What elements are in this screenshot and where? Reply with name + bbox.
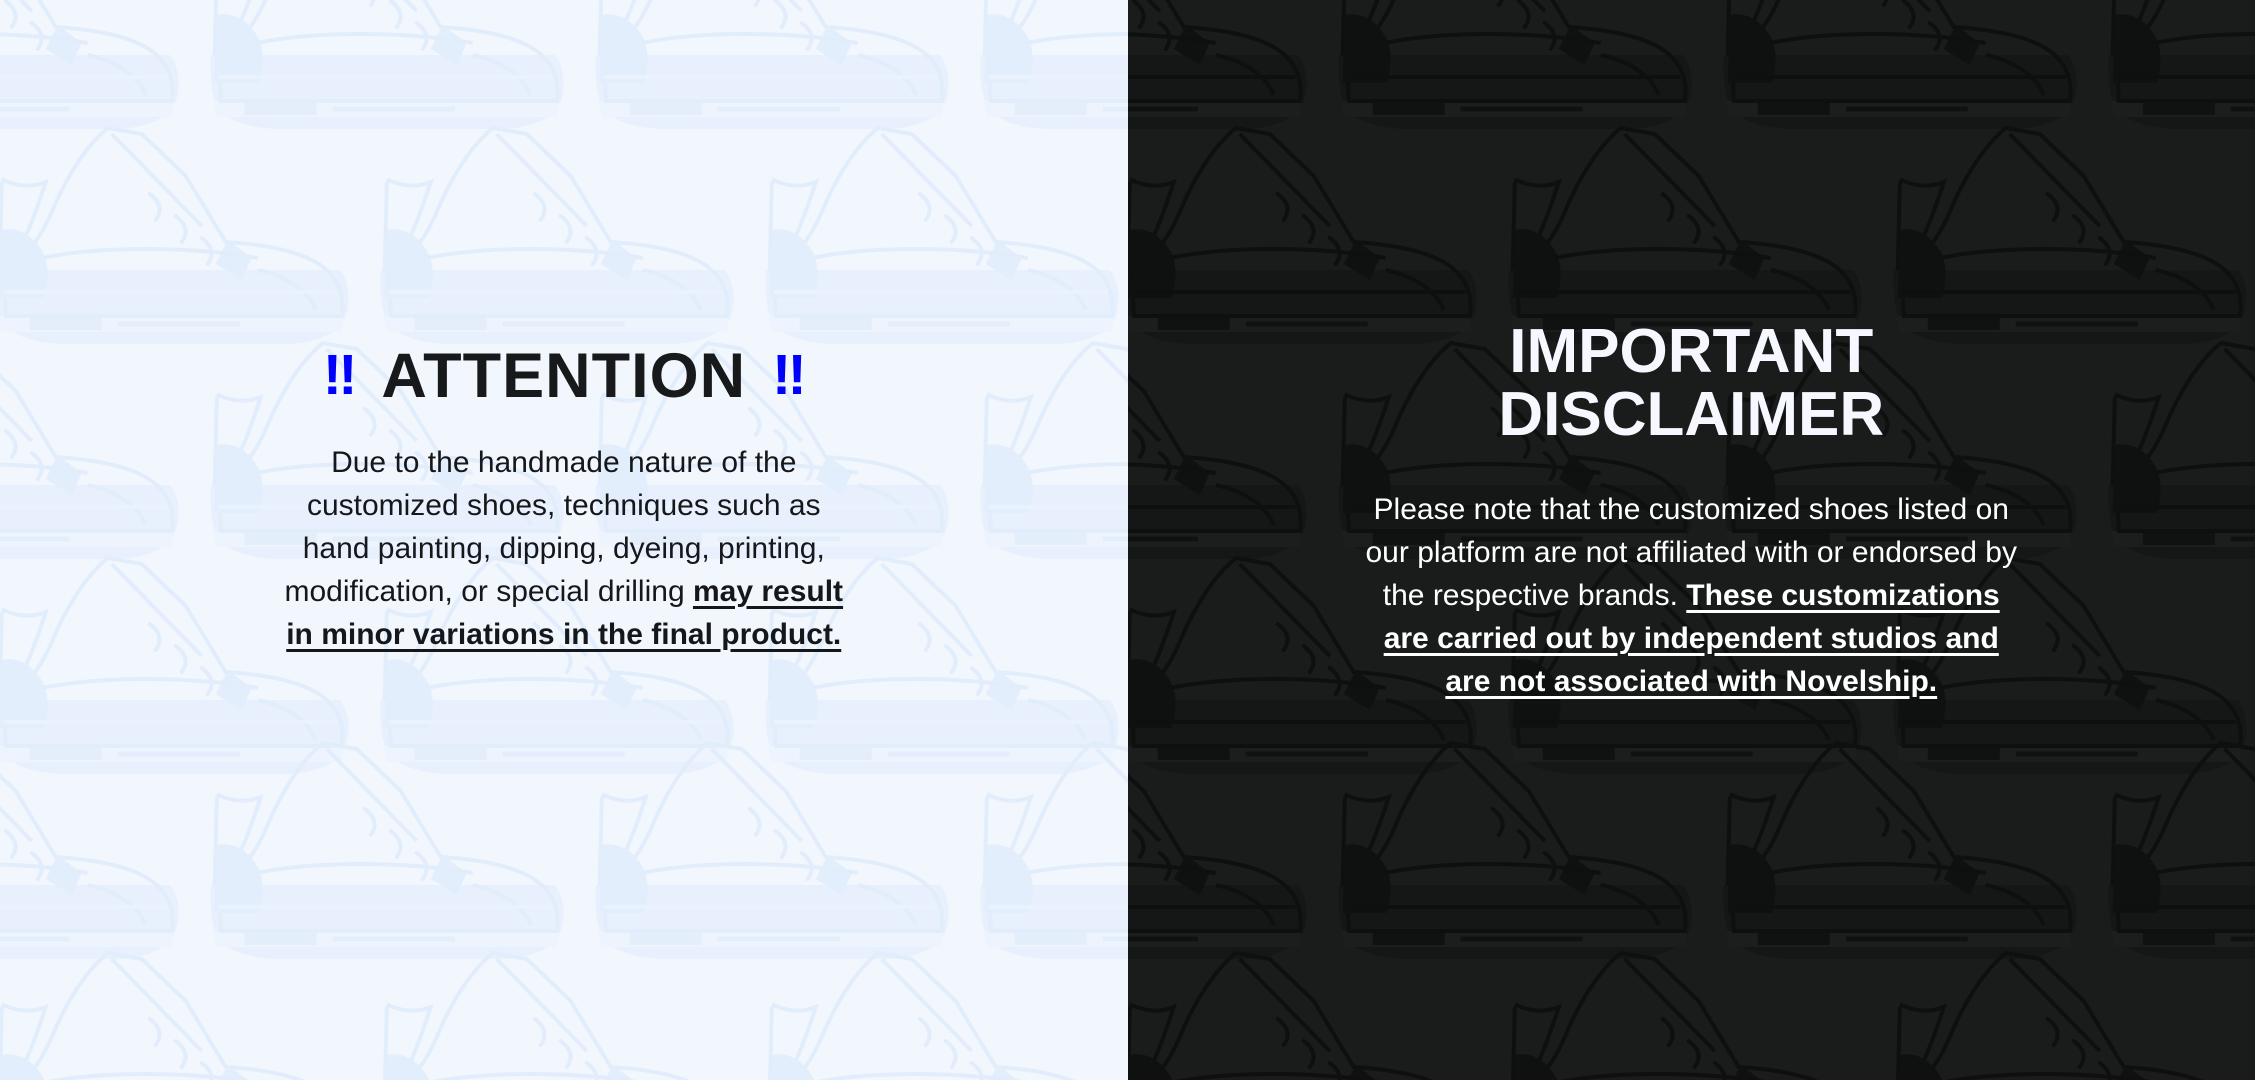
attention-heading-text: ATTENTION xyxy=(381,345,746,408)
disclaimer-heading-line2: DISCLAIMER xyxy=(1498,383,1884,446)
disclaimer-heading-line1: IMPORTANT xyxy=(1498,320,1884,383)
disclaimer-body: Please note that the customized shoes li… xyxy=(1359,488,2024,703)
double-exclamation-right-icon: ‼ xyxy=(772,347,804,404)
disclaimer-heading: IMPORTANT DISCLAIMER xyxy=(1498,320,1884,446)
disclaimer-content: IMPORTANT DISCLAIMER Please note that th… xyxy=(1128,0,2255,703)
split-banner: ‼ ATTENTION ‼ Due to the handmade nature… xyxy=(0,0,2255,1080)
attention-body: Due to the handmade nature of the custom… xyxy=(279,441,849,656)
disclaimer-panel: IMPORTANT DISCLAIMER Please note that th… xyxy=(1128,0,2255,1080)
attention-content: ‼ ATTENTION ‼ Due to the handmade nature… xyxy=(0,0,1128,656)
double-exclamation-left-icon: ‼ xyxy=(323,347,355,404)
attention-panel: ‼ ATTENTION ‼ Due to the handmade nature… xyxy=(0,0,1128,1080)
attention-heading: ‼ ATTENTION ‼ xyxy=(323,345,805,408)
